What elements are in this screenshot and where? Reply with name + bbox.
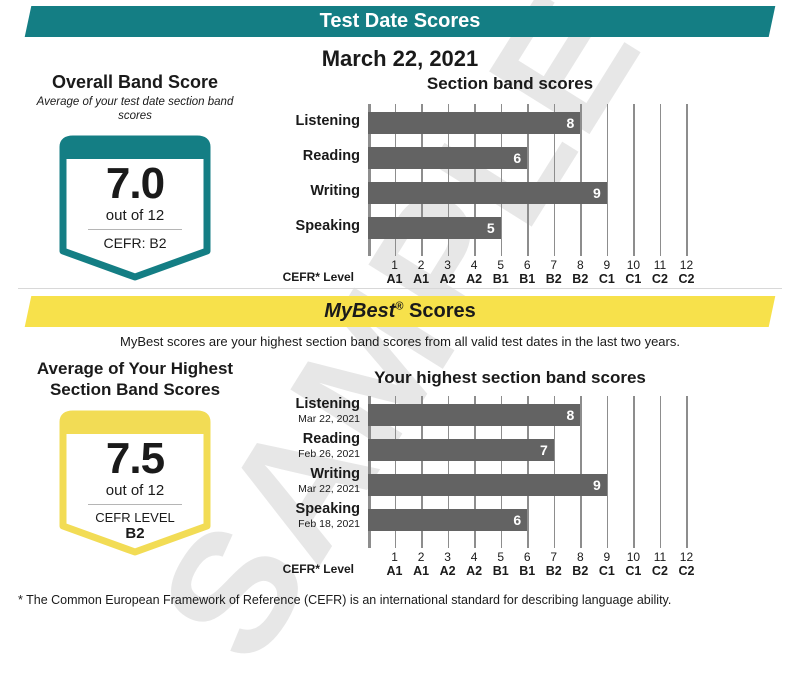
mybest-banner-label: MyBest® Scores [324, 300, 476, 323]
chart-axis-tick: 6B1 [512, 550, 542, 579]
chart-row-label: SpeakingFeb 18, 2021 [276, 501, 368, 530]
chart-tick-number: 11 [645, 550, 675, 564]
chart-tick-number: 8 [565, 550, 595, 564]
chart-bar: 6 [368, 509, 527, 531]
chart-row-name: Speaking [276, 501, 360, 518]
highest-section-band-scores-chart: ListeningMar 22, 2021ReadingFeb 26, 2021… [270, 396, 770, 576]
chart-row-name: Writing [276, 183, 360, 200]
chart-row-label: WritingMar 22, 2021 [276, 466, 368, 495]
chart-tick-number: 9 [592, 550, 622, 564]
chart-bar-row: 9 [368, 182, 713, 204]
chart-tick-number: 6 [512, 550, 542, 564]
mybest-badge-heading: Average of Your Highest Section Band Sco… [12, 358, 258, 400]
chart-axis-tick: 5B1 [486, 550, 516, 579]
chart-bar: 9 [368, 474, 607, 496]
chart-tick-cefr: C1 [592, 272, 622, 287]
chart-axis-tick: 3A2 [433, 258, 463, 287]
mybest-cefr-level-value: B2 [55, 525, 215, 542]
chart-axis-tick: 11C2 [645, 550, 675, 579]
overall-cefr-value: CEFR: B2 [55, 235, 215, 251]
mybest-scores-banner: MyBest® Scores [28, 296, 772, 327]
overall-band-score-badge: 7.0 out of 12 CEFR: B2 [55, 133, 215, 283]
chart-row-name: Speaking [276, 218, 360, 235]
chart-row-date: Feb 26, 2021 [276, 448, 360, 460]
chart-tick-number: 2 [406, 550, 436, 564]
chart-bar-row: 6 [368, 509, 713, 531]
chart-row-name: Reading [276, 148, 360, 165]
chart-tick-cefr: B2 [539, 564, 569, 579]
chart-tick-number: 11 [645, 258, 675, 272]
chart-tick-number: 5 [486, 258, 516, 272]
chart-tick-cefr: A2 [459, 564, 489, 579]
chart-bar: 5 [368, 217, 501, 239]
chart-axis-tick: 7B2 [539, 258, 569, 287]
chart-bar-value: 5 [487, 217, 495, 239]
chart-tick-cefr: C2 [671, 272, 701, 287]
chart-axis-tick: 11C2 [645, 258, 675, 287]
chart-bar-row: 9 [368, 474, 713, 496]
chart-bar-value: 9 [593, 182, 601, 204]
cefr-footnote: * The Common European Framework of Refer… [18, 592, 718, 608]
chart-bar-value: 8 [567, 112, 575, 134]
chart-tick-cefr: A1 [380, 272, 410, 287]
chart-bar-value: 8 [567, 404, 575, 426]
overall-score-outof: out of 12 [55, 207, 215, 224]
chart-tick-cefr: B1 [512, 272, 542, 287]
chart-tick-cefr: C2 [671, 564, 701, 579]
chart-row-label: Speaking [276, 218, 368, 235]
chart-tick-number: 9 [592, 258, 622, 272]
chart-tick-number: 4 [459, 258, 489, 272]
overall-score-value: 7.0 [55, 161, 215, 207]
mybest-cefr-level-label: CEFR LEVEL [55, 510, 215, 525]
chart-bar-value: 6 [513, 509, 521, 531]
chart-tick-cefr: A1 [380, 564, 410, 579]
chart-axis-tick: 12C2 [671, 550, 701, 579]
chart-axis-tick: 1A1 [380, 258, 410, 287]
test-date: March 22, 2021 [0, 46, 800, 72]
chart-row-label: ListeningMar 22, 2021 [276, 396, 368, 425]
chart-row-name: Listening [276, 396, 360, 413]
chart-tick-number: 3 [433, 258, 463, 272]
chart-axis-tick: 10C1 [618, 550, 648, 579]
chart-bar: 7 [368, 439, 554, 461]
chart-bottom-row-labels: ListeningMar 22, 2021ReadingFeb 26, 2021… [270, 396, 368, 576]
chart-row-label: Listening [276, 113, 368, 130]
chart-tick-cefr: B2 [539, 272, 569, 287]
chart-tick-cefr: C1 [592, 564, 622, 579]
mybest-score-value: 7.5 [55, 436, 215, 482]
chart-row-name: Reading [276, 431, 360, 448]
chart-tick-cefr: B2 [565, 272, 595, 287]
chart-bar: 8 [368, 112, 580, 134]
chart-tick-number: 2 [406, 258, 436, 272]
chart-tick-number: 4 [459, 550, 489, 564]
section-band-scores-title: Section band scores [280, 74, 740, 94]
chart-row-date: Mar 22, 2021 [276, 483, 360, 495]
chart-bar-row: 5 [368, 217, 713, 239]
chart-row-label: Reading [276, 148, 368, 165]
chart-axis-tick: 5B1 [486, 258, 516, 287]
chart-tick-cefr: A1 [406, 564, 436, 579]
chart-tick-number: 1 [380, 258, 410, 272]
overall-band-score-heading: Overall Band Score [20, 72, 250, 93]
chart-bar: 8 [368, 404, 580, 426]
chart-bar-value: 9 [593, 474, 601, 496]
mybest-score-outof: out of 12 [55, 482, 215, 499]
chart-axis-tick: 6B1 [512, 258, 542, 287]
chart-axis-tick: 12C2 [671, 258, 701, 287]
chart-top-axis-caption: CEFR* Level [270, 270, 362, 284]
chart-tick-number: 6 [512, 258, 542, 272]
chart-tick-number: 7 [539, 550, 569, 564]
chart-axis-tick: 4A2 [459, 550, 489, 579]
chart-row-name: Listening [276, 113, 360, 130]
chart-bar: 6 [368, 147, 527, 169]
overall-badge-body: 7.0 out of 12 CEFR: B2 [55, 133, 215, 251]
chart-tick-cefr: C2 [645, 272, 675, 287]
highest-section-band-scores-title: Your highest section band scores [280, 368, 740, 388]
chart-axis-tick: 9C1 [592, 550, 622, 579]
chart-tick-number: 10 [618, 258, 648, 272]
chart-bar-row: 8 [368, 112, 713, 134]
mybest-average-badge: 7.5 out of 12 CEFR LEVEL B2 [55, 408, 215, 558]
chart-tick-cefr: A2 [459, 272, 489, 287]
chart-axis-tick: 8B2 [565, 550, 595, 579]
chart-tick-number: 8 [565, 258, 595, 272]
chart-axis-tick: 2A1 [406, 258, 436, 287]
chart-tick-number: 1 [380, 550, 410, 564]
chart-tick-number: 12 [671, 550, 701, 564]
chart-top-plot-area: 8695 [368, 104, 713, 256]
chart-axis-tick: 7B2 [539, 550, 569, 579]
chart-bottom-plot-area: 8796 [368, 396, 713, 548]
chart-tick-cefr: A2 [433, 564, 463, 579]
chart-top-plot-inner: 8695 [368, 104, 713, 256]
badge-divider [88, 504, 182, 505]
chart-tick-cefr: B1 [512, 564, 542, 579]
chart-row-label: ReadingFeb 26, 2021 [276, 431, 368, 460]
overall-band-score-subheading: Average of your test date section band s… [30, 95, 240, 123]
chart-row-label: Writing [276, 183, 368, 200]
mybest-description: MyBest scores are your highest section b… [0, 334, 800, 349]
chart-axis-tick: 9C1 [592, 258, 622, 287]
mybest-badge-body: 7.5 out of 12 CEFR LEVEL B2 [55, 408, 215, 542]
section-band-scores-chart: ListeningReadingWritingSpeaking 8695 CEF… [270, 104, 770, 284]
chart-row-date: Feb 18, 2021 [276, 518, 360, 530]
chart-row-date: Mar 22, 2021 [276, 413, 360, 425]
chart-axis-tick: 3A2 [433, 550, 463, 579]
chart-tick-cefr: C1 [618, 272, 648, 287]
chart-bar-value: 6 [513, 147, 521, 169]
chart-axis-tick: 10C1 [618, 258, 648, 287]
chart-tick-cefr: A2 [433, 272, 463, 287]
chart-axis-tick: 2A1 [406, 550, 436, 579]
chart-top-row-labels: ListeningReadingWritingSpeaking [270, 104, 368, 284]
chart-tick-number: 5 [486, 550, 516, 564]
mybest-word: MyBest [324, 300, 395, 322]
test-date-scores-banner: Test Date Scores [28, 6, 772, 37]
chart-tick-number: 10 [618, 550, 648, 564]
chart-axis-tick: 4A2 [459, 258, 489, 287]
chart-tick-cefr: B1 [486, 272, 516, 287]
section-divider [18, 288, 782, 289]
chart-bottom-axis-caption: CEFR* Level [270, 562, 362, 576]
chart-axis-tick: 8B2 [565, 258, 595, 287]
chart-tick-cefr: A1 [406, 272, 436, 287]
chart-bar-row: 6 [368, 147, 713, 169]
chart-bar-row: 7 [368, 439, 713, 461]
chart-row-name: Writing [276, 466, 360, 483]
chart-tick-number: 7 [539, 258, 569, 272]
chart-tick-number: 12 [671, 258, 701, 272]
chart-axis-tick: 1A1 [380, 550, 410, 579]
chart-tick-cefr: C2 [645, 564, 675, 579]
chart-bar-row: 8 [368, 404, 713, 426]
chart-tick-number: 3 [433, 550, 463, 564]
chart-tick-cefr: C1 [618, 564, 648, 579]
chart-tick-cefr: B1 [486, 564, 516, 579]
badge-divider [88, 229, 182, 230]
chart-bar: 9 [368, 182, 607, 204]
chart-tick-cefr: B2 [565, 564, 595, 579]
test-date-banner-label: Test Date Scores [320, 10, 481, 33]
chart-bar-value: 7 [540, 439, 548, 461]
mybest-banner-label-rest: Scores [403, 300, 475, 322]
chart-bottom-plot-inner: 8796 [368, 396, 713, 548]
